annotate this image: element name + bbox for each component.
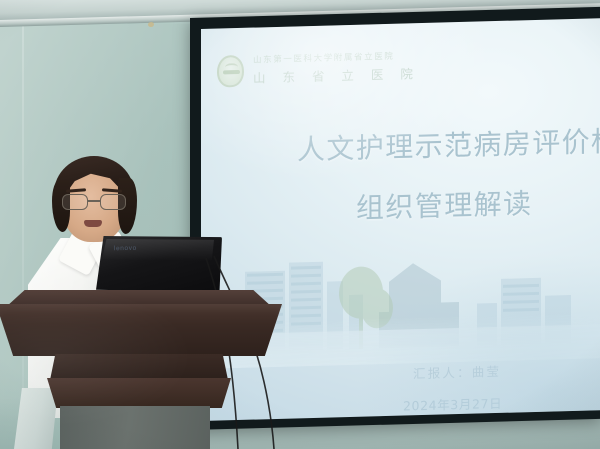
slide-presenter-label: 汇报人：曲莹 [413, 361, 501, 382]
hospital-crest-emblem-icon [217, 54, 244, 87]
slide-logo-block: 山东第一医科大学附属省立医院 山 东 省 立 医 院 [217, 49, 419, 87]
presentation-photo-scene: 山东第一医科大学附属省立医院 山 东 省 立 医 院 人文护理示范病房评价标准 … [0, 0, 600, 449]
lectern-front-panel [0, 304, 282, 356]
lectern-column [60, 406, 210, 449]
slide-logo-text: 山东第一医科大学附属省立医院 山 东 省 立 医 院 [253, 49, 419, 87]
lectern-neck [50, 354, 228, 380]
wooden-lectern [0, 288, 282, 449]
slide-date-label: 2024年3月27日 [403, 393, 502, 415]
slide-title-line-2: 组织管理解读 [356, 182, 532, 227]
org-name-short: 山 东 省 立 医 院 [253, 63, 419, 87]
glasses-icon [60, 194, 130, 212]
glasses-lens-right [100, 194, 126, 210]
lectern-band [47, 378, 231, 408]
mouth [84, 220, 102, 227]
glasses-lens-left [62, 194, 88, 210]
slide-title-line-1: 人文护理示范病房评价标准 [297, 119, 600, 169]
glasses-bridge [88, 200, 100, 202]
laptop-brand-label: lenovo [114, 245, 137, 252]
